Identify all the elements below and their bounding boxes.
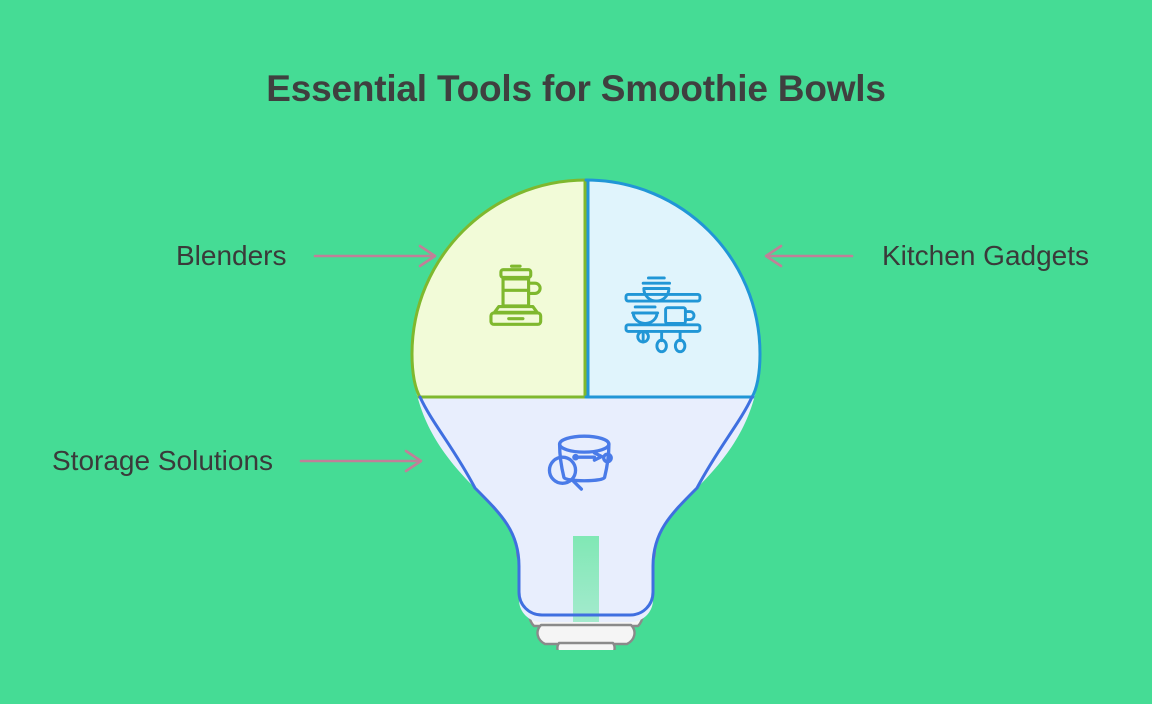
light-bulb-icon xyxy=(398,168,774,650)
page-title: Essential Tools for Smoothie Bowls xyxy=(0,68,1152,110)
light-bulb-diagram xyxy=(398,168,774,650)
callout-storage-solutions[interactable]: Storage Solutions xyxy=(52,441,429,481)
callout-label-blenders: Blenders xyxy=(176,236,287,276)
callout-label-storage-solutions: Storage Solutions xyxy=(52,441,273,481)
callout-kitchen-gadgets[interactable]: Kitchen Gadgets xyxy=(762,236,1089,276)
callout-label-kitchen-gadgets: Kitchen Gadgets xyxy=(882,236,1089,276)
arrow-left-icon xyxy=(762,244,854,268)
diagram-canvas: Essential Tools for Smoothie Bowls Blend… xyxy=(0,0,1152,704)
